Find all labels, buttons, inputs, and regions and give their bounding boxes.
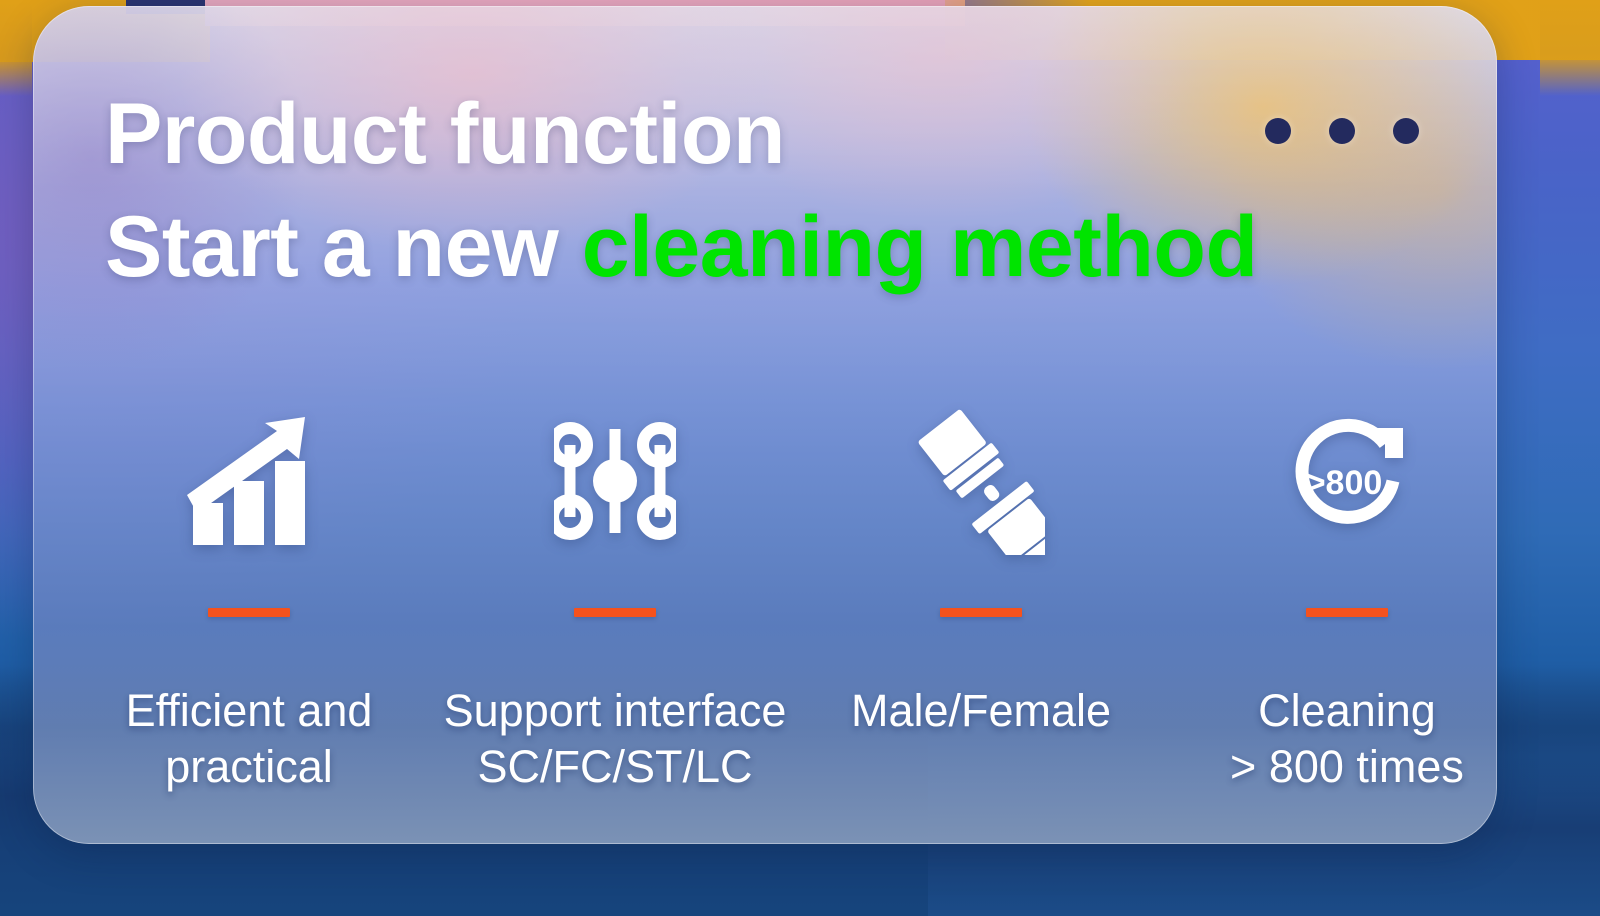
heading-line-2-white: Start a new	[105, 199, 582, 295]
feature-caption: Male/Female	[851, 683, 1111, 739]
sliders-icon	[554, 396, 676, 566]
cleaning-cycles-label: >800	[1306, 464, 1383, 502]
promo-banner: Product function Start a new cleaning me…	[0, 0, 1600, 916]
feature-caption: Cleaning > 800 times	[1230, 683, 1464, 795]
feature-divider	[574, 608, 656, 617]
heading-line-2-green: cleaning method	[582, 199, 1258, 295]
glass-card: Product function Start a new cleaning me…	[33, 6, 1497, 844]
dot-icon	[1329, 118, 1355, 144]
feature-divider	[208, 608, 290, 617]
feature-item-efficient: Efficient and practical	[66, 396, 432, 826]
growth-chart-icon	[185, 396, 313, 566]
heading-block: Product function Start a new cleaning me…	[105, 78, 1425, 304]
background-gold-left-tail	[0, 0, 32, 96]
background-gold-right-tail	[1540, 0, 1600, 96]
cleaning-cycles-icon: >800	[1282, 396, 1412, 566]
feature-divider	[1306, 608, 1388, 617]
fiber-connector-icon	[917, 396, 1045, 566]
feature-divider	[940, 608, 1022, 617]
heading-line-1: Product function	[105, 78, 1425, 191]
feature-row: Efficient and practical	[66, 396, 1497, 826]
dot-icon	[1265, 118, 1291, 144]
dot-icon	[1393, 118, 1419, 144]
feature-item-interface: Support interface SC/FC/ST/LC	[432, 396, 798, 826]
feature-caption: Support interface SC/FC/ST/LC	[444, 683, 787, 795]
feature-item-cycles: >800 Cleaning > 800 times	[1164, 396, 1497, 826]
feature-item-gender: Male/Female	[798, 396, 1164, 826]
feature-caption: Efficient and practical	[126, 683, 373, 795]
heading-line-2: Start a new cleaning method	[105, 191, 1425, 304]
decorative-dots	[1265, 118, 1419, 144]
